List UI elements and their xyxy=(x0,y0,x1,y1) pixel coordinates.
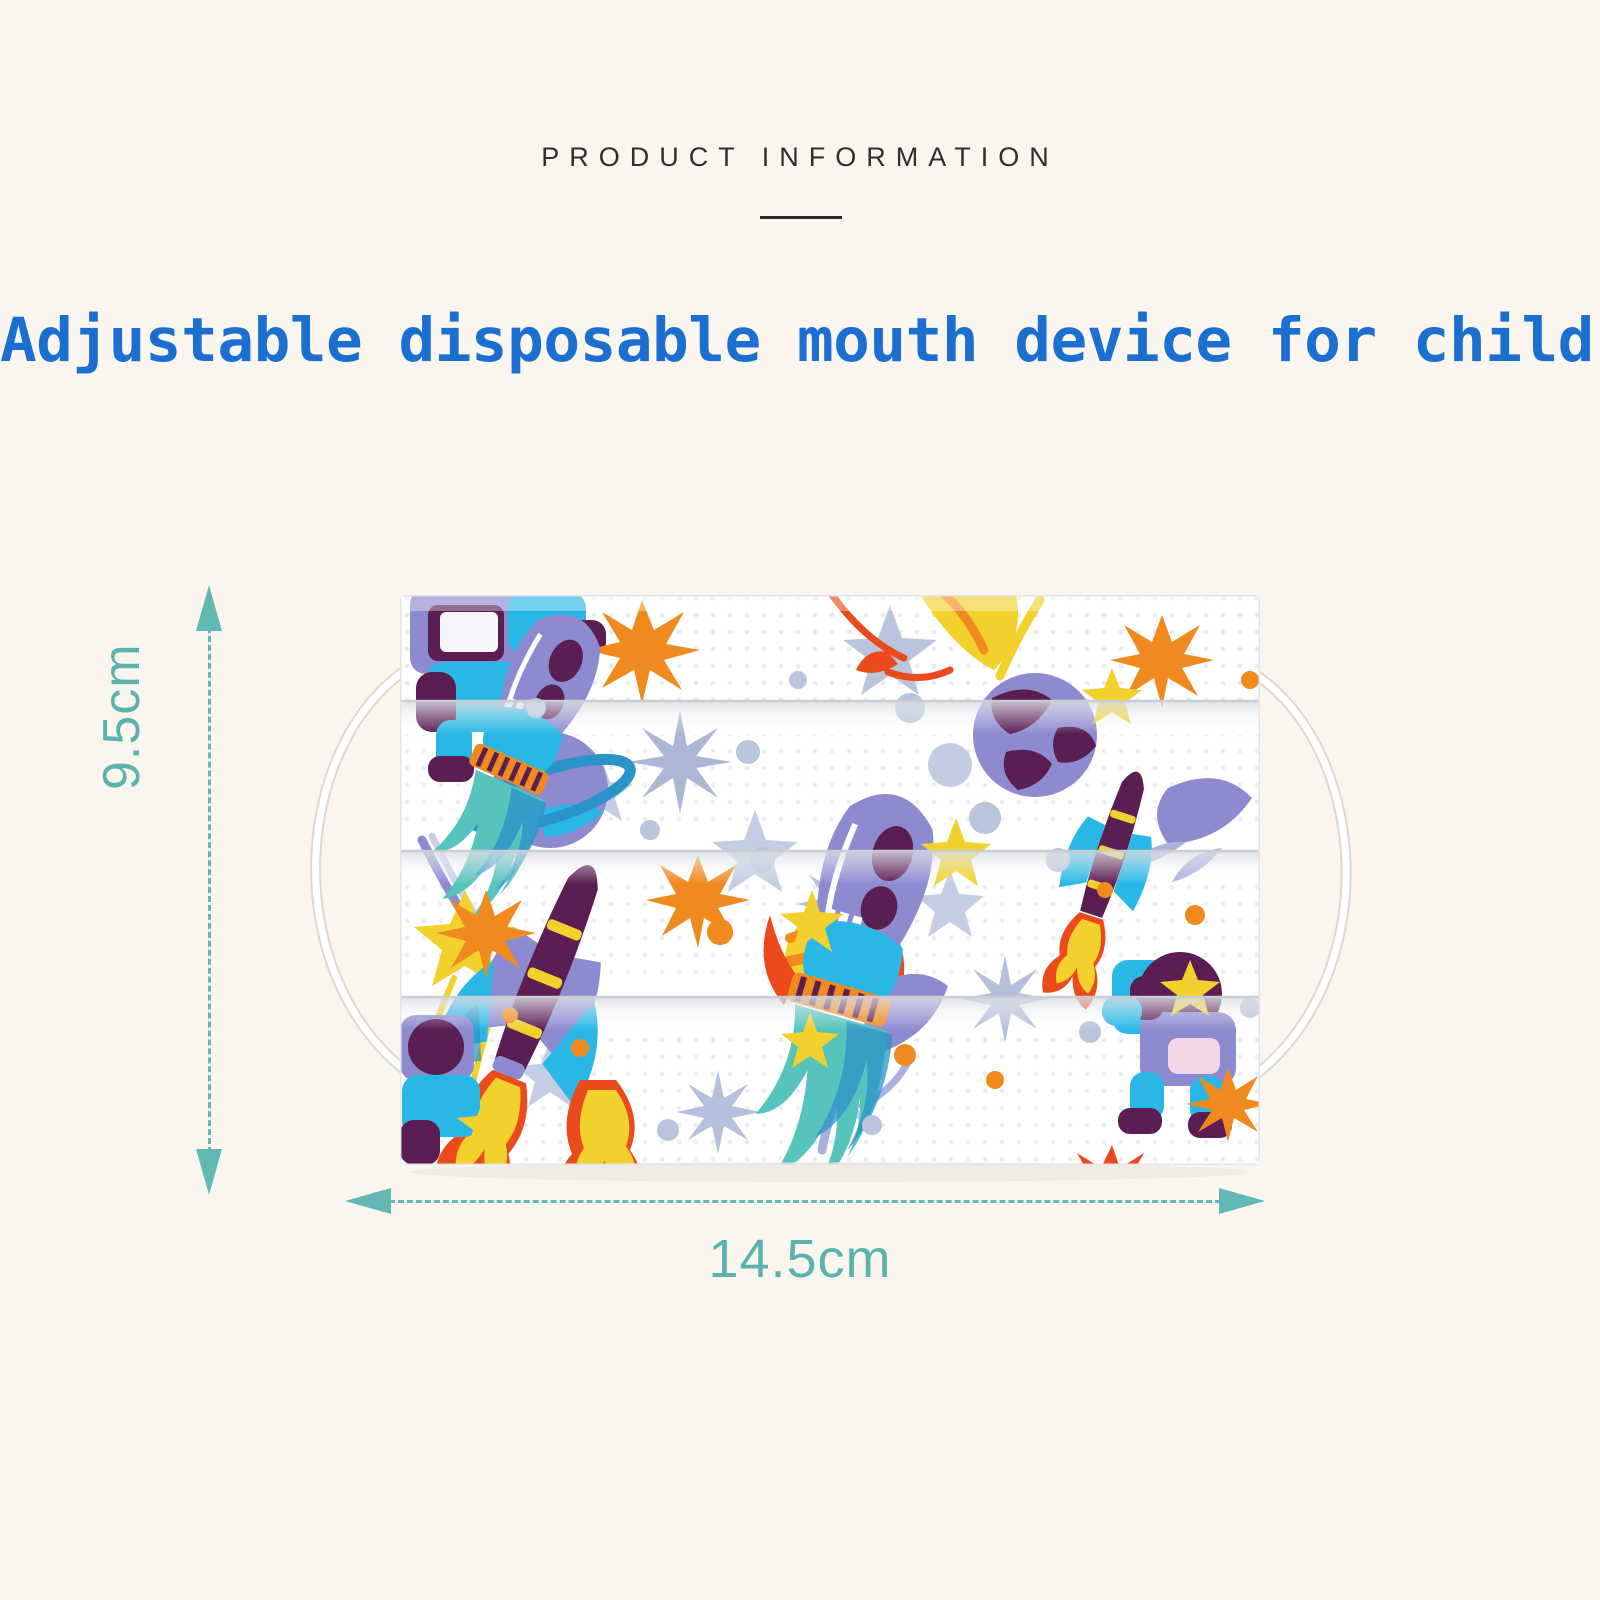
section-eyebrow: PRODUCT INFORMATION xyxy=(0,142,1600,173)
width-dimension-label: 14.5cm xyxy=(0,1228,1600,1290)
arrow-head-down-icon xyxy=(196,1149,222,1195)
product-image-face-mask xyxy=(250,560,1410,1190)
eyebrow-divider-rule xyxy=(760,216,842,219)
width-dimension-arrow xyxy=(345,1188,1265,1216)
dimension-dashed-line xyxy=(389,1200,1221,1203)
page-headline: Adjustable disposable mouth device for c… xyxy=(0,305,1600,376)
mask-body xyxy=(383,565,1270,1190)
cratered-planet xyxy=(973,673,1097,797)
product-information-page: PRODUCT INFORMATION Adjustable disposabl… xyxy=(0,0,1600,1600)
height-dimension-arrow xyxy=(196,585,222,1195)
arrow-head-right-icon xyxy=(1219,1188,1265,1214)
height-dimension-label: 9.5cm xyxy=(92,643,152,790)
arrow-head-left-icon xyxy=(345,1188,391,1214)
arrow-head-up-icon xyxy=(196,585,222,631)
dimension-dashed-line xyxy=(208,627,211,1153)
